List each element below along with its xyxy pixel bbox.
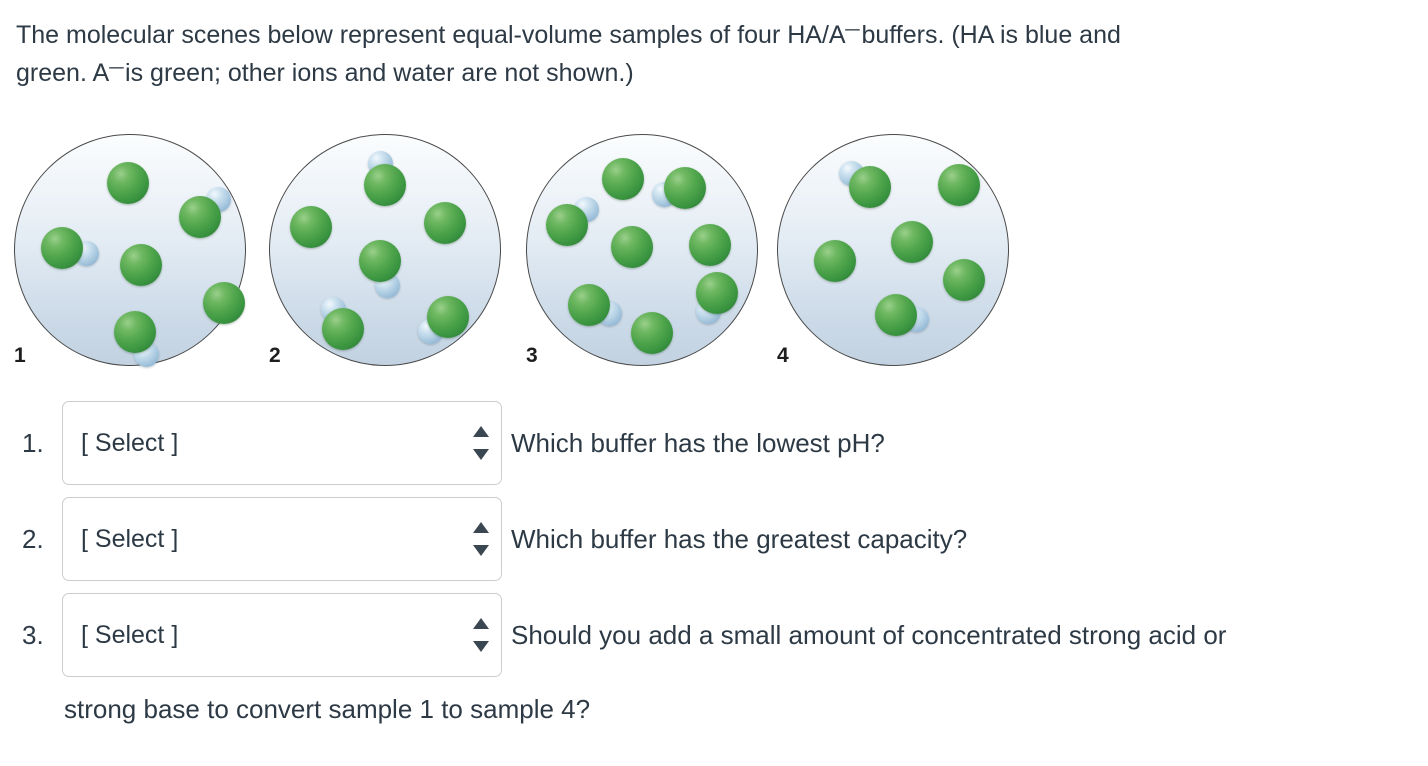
chevron-down-icon[interactable] — [473, 641, 489, 652]
molecular-scene-1 — [0, 132, 240, 372]
answer-dropdown-2[interactable]: [ Select ] — [62, 497, 502, 581]
question-number: 2. — [22, 524, 62, 555]
anion-atom-sphere — [120, 244, 162, 286]
anion-atom-sphere — [631, 312, 673, 354]
dropdown-spinner-arrows-icon[interactable] — [473, 426, 489, 460]
prompt-line-1-part-a: The molecular scenes below represent equ… — [16, 21, 846, 49]
question-row-1: 1.[ Select ]Which buffer has the lowest … — [22, 400, 885, 486]
dropdown-spinner-arrows-icon[interactable] — [473, 618, 489, 652]
molecular-scene-2 — [255, 132, 495, 372]
anion-atom-sphere — [424, 202, 466, 244]
anion-atom-sphere — [849, 166, 891, 208]
scene-number-label: 3 — [526, 344, 538, 368]
scene-label-holder: 3 — [526, 344, 538, 368]
question-row-2: 2.[ Select ]Which buffer has the greates… — [22, 496, 967, 582]
answer-dropdown-3[interactable]: [ Select ] — [62, 593, 502, 677]
beaker-circle — [777, 134, 1009, 366]
anion-atom-sphere — [696, 272, 738, 314]
anion-atom-sphere — [943, 259, 985, 301]
prompt-line-2: green. A–is green; other ions and water … — [16, 54, 1416, 92]
anion-atom-sphere — [41, 227, 83, 269]
prompt-line-2-part-b: is green; other ions and water are not s… — [125, 59, 634, 87]
anion-atom-sphere — [322, 308, 364, 350]
chevron-up-icon[interactable] — [473, 618, 489, 629]
scene-number-label: 4 — [777, 344, 789, 368]
anion-atom-sphere — [875, 294, 917, 336]
beaker-circle — [14, 134, 246, 366]
anion-atom-sphere — [602, 158, 644, 200]
anion-atom-sphere — [611, 226, 653, 268]
question-text: Should you add a small amount of concent… — [511, 620, 1226, 651]
anion-atom-sphere — [689, 224, 731, 266]
chevron-down-icon[interactable] — [473, 545, 489, 556]
superscript-minus-icon: – — [109, 54, 124, 82]
question-number: 3. — [22, 620, 62, 651]
question-text: Which buffer has the greatest capacity? — [511, 524, 967, 555]
question-number: 1. — [22, 428, 62, 459]
anion-atom-sphere — [568, 284, 610, 326]
anion-atom-sphere — [203, 282, 245, 324]
chevron-up-icon[interactable] — [473, 426, 489, 437]
prompt-line-2-part-a: green. A — [16, 59, 109, 87]
anion-atom-sphere — [664, 167, 706, 209]
molecular-scene-3 — [512, 132, 752, 372]
chevron-up-icon[interactable] — [473, 522, 489, 533]
question-prompt: The molecular scenes below represent equ… — [16, 16, 1416, 91]
anion-atom-sphere — [891, 221, 933, 263]
scene-label-holder: 2 — [269, 344, 281, 368]
beaker-circle — [526, 134, 758, 366]
question-text: Which buffer has the lowest pH? — [511, 428, 885, 459]
beaker-circle — [269, 134, 501, 366]
anion-atom-sphere — [290, 206, 332, 248]
molecular-scenes-figure: 1234 — [0, 132, 1030, 382]
molecular-scene-4 — [763, 132, 1003, 372]
anion-atom-sphere — [938, 164, 980, 206]
anion-atom-sphere — [427, 296, 469, 338]
anion-atom-sphere — [814, 240, 856, 282]
anion-atom-sphere — [179, 196, 221, 238]
prompt-line-1: The molecular scenes below represent equ… — [16, 16, 1416, 54]
dropdown-selected-value: [ Select ] — [63, 621, 178, 650]
dropdown-spinner-arrows-icon[interactable] — [473, 522, 489, 556]
anion-atom-sphere — [546, 204, 588, 246]
prompt-line-1-part-b: buffers. (HA is blue and — [861, 21, 1120, 49]
dropdown-selected-value: [ Select ] — [63, 525, 178, 554]
question-row-3: 3.[ Select ]Should you add a small amoun… — [22, 592, 1226, 678]
anion-atom-sphere — [114, 311, 156, 353]
anion-atom-sphere — [107, 162, 149, 204]
anion-atom-sphere — [364, 164, 406, 206]
chevron-down-icon[interactable] — [473, 449, 489, 460]
dropdown-selected-value: [ Select ] — [63, 429, 178, 458]
superscript-minus-icon: – — [845, 16, 860, 44]
scene-label-holder: 4 — [777, 344, 789, 368]
scene-label-holder: 1 — [14, 344, 26, 368]
answer-dropdown-1[interactable]: [ Select ] — [62, 401, 502, 485]
question-3-text-continuation: strong base to convert sample 1 to sampl… — [64, 694, 590, 725]
anion-atom-sphere — [359, 240, 401, 282]
scene-number-label: 2 — [269, 344, 281, 368]
scene-number-label: 1 — [14, 344, 26, 368]
